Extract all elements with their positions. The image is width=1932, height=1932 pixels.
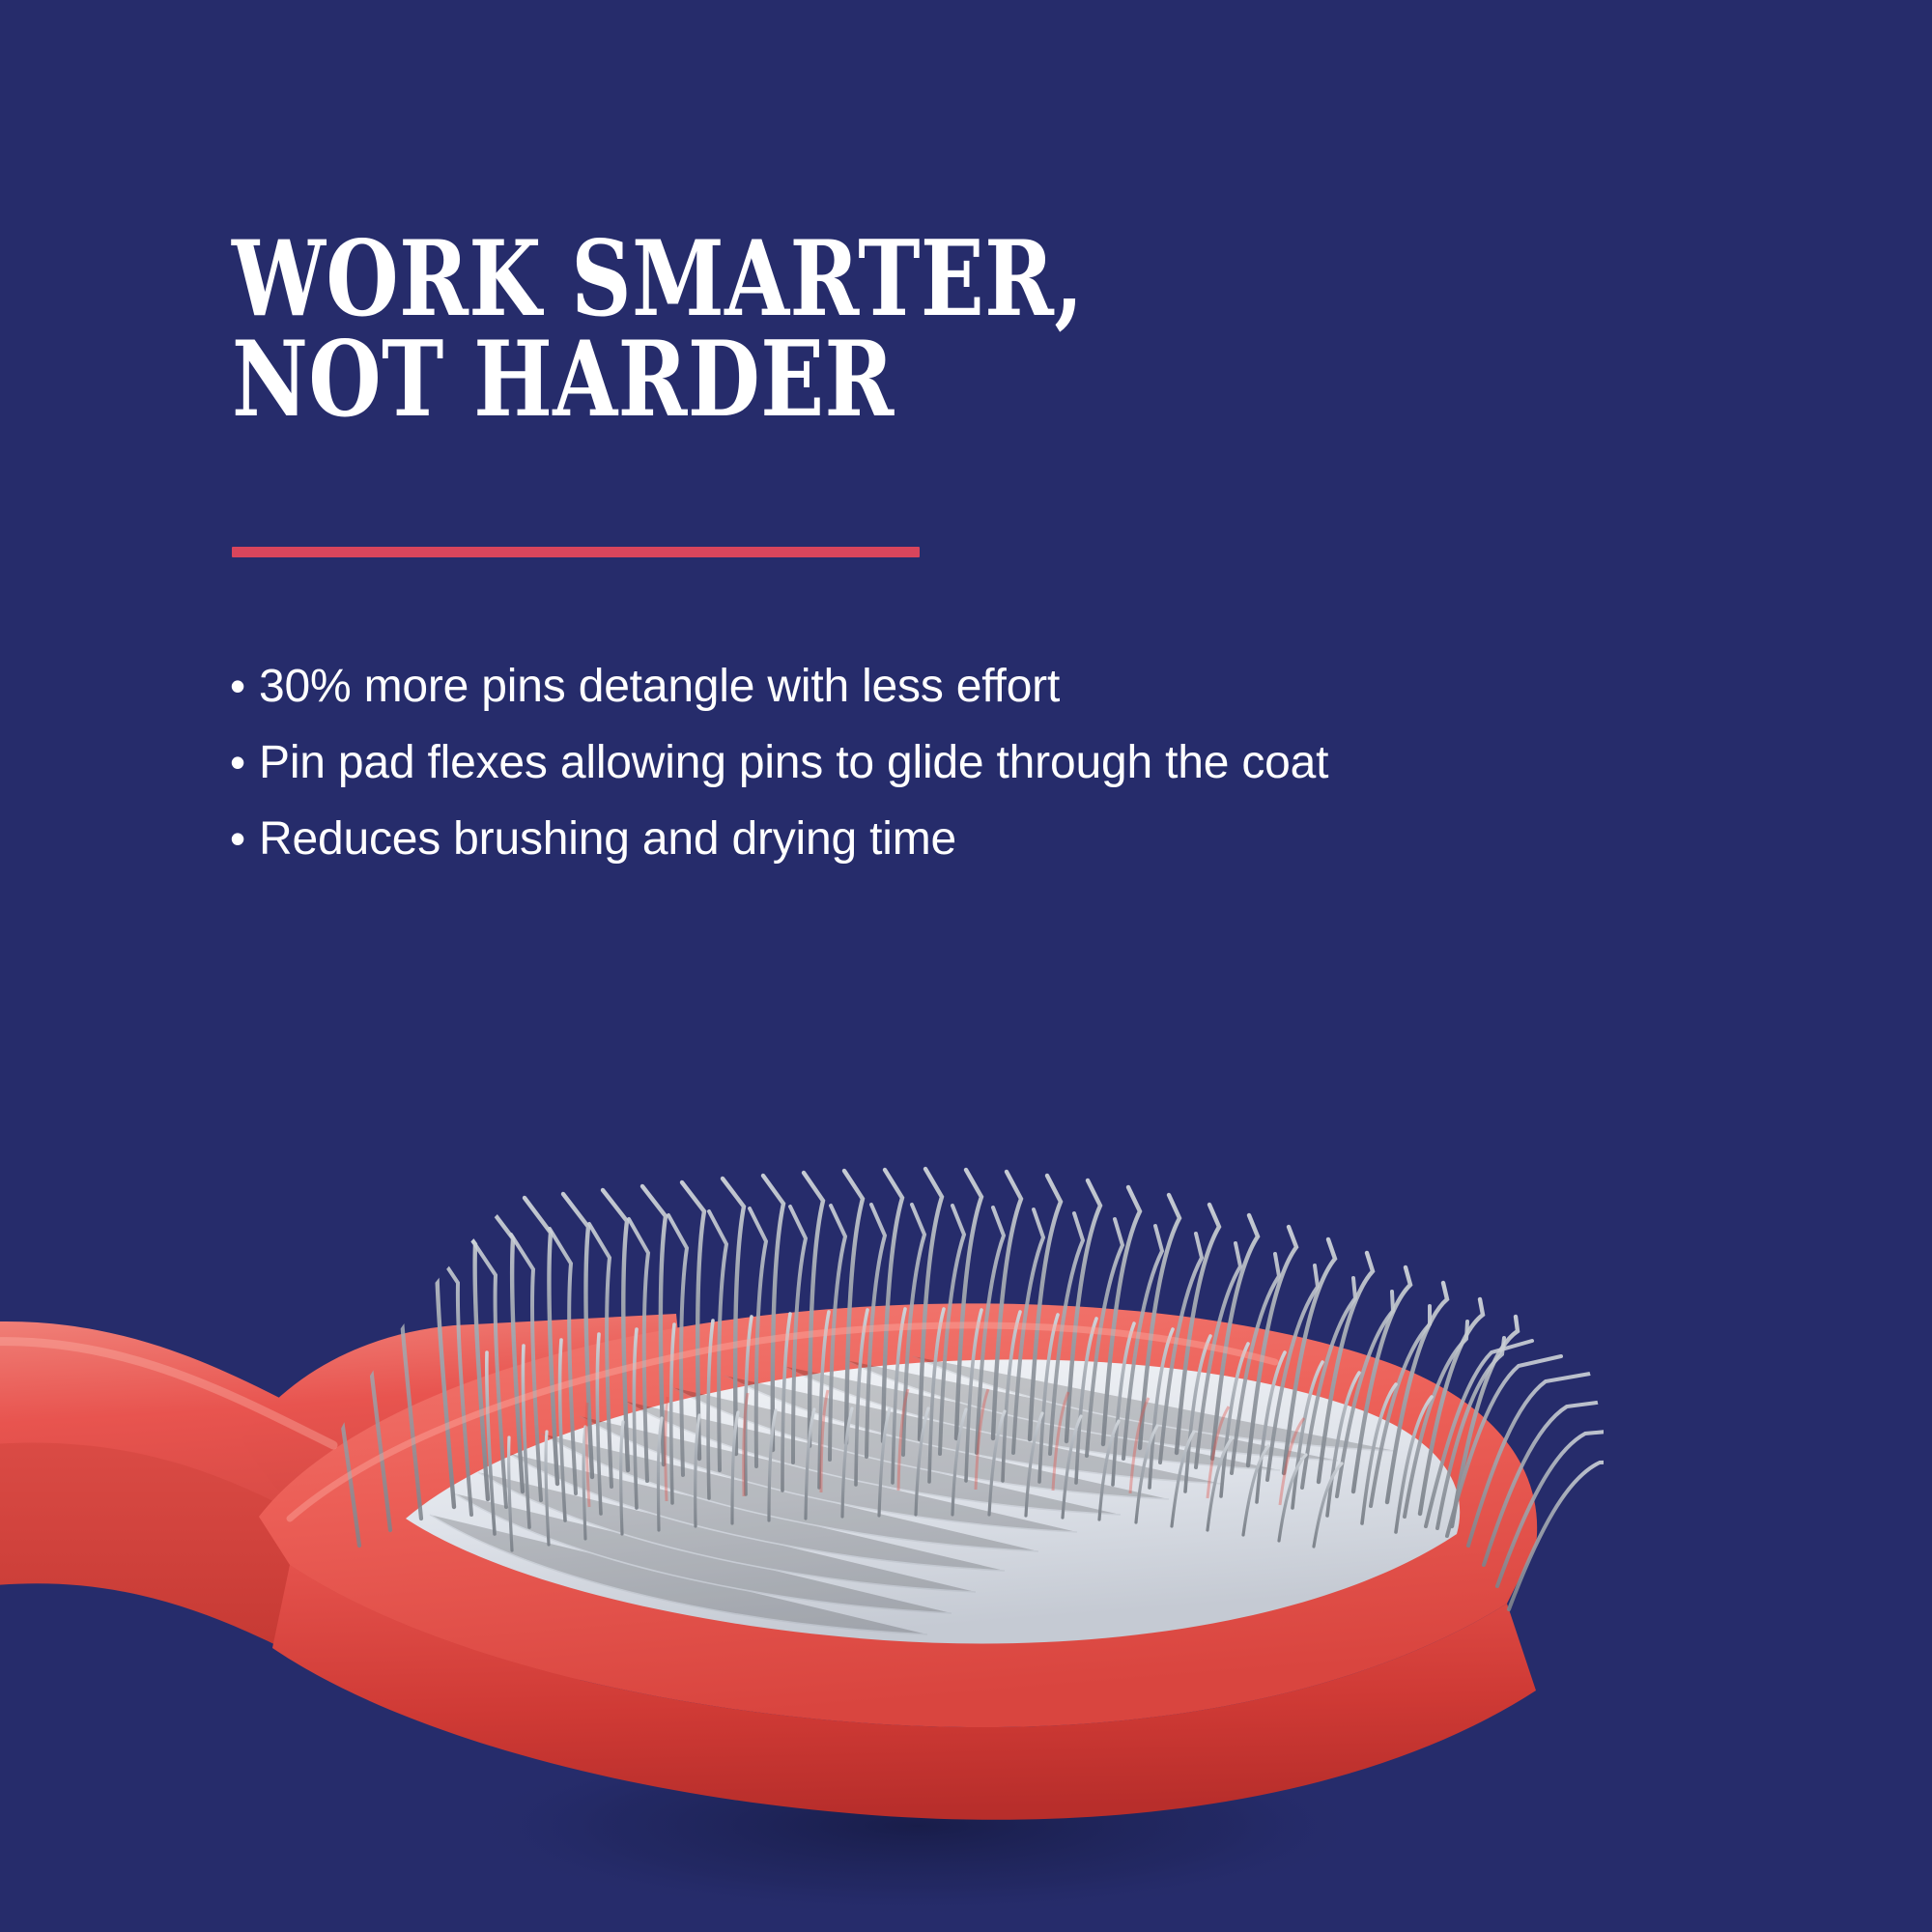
page-title: WORK SMARTER, NOT HARDER [232, 230, 1488, 430]
bullet-marker-icon: • [230, 733, 259, 791]
list-item-label: Reduces brushing and drying time [259, 810, 1437, 868]
accent-divider [232, 547, 920, 557]
feature-list: • 30% more pins detangle with less effor… [230, 657, 1437, 886]
list-item: • 30% more pins detangle with less effor… [230, 657, 1437, 716]
bullet-marker-icon: • [230, 657, 259, 715]
list-item-label: 30% more pins detangle with less effort [259, 657, 1437, 716]
headline-line-2: NOT HARDER [232, 330, 1236, 431]
bullet-marker-icon: • [230, 810, 259, 867]
headline-line-1: WORK SMARTER, [232, 230, 1236, 330]
product-photo-slicker-brush [0, 1024, 1932, 1932]
list-item: • Reduces brushing and drying time [230, 810, 1437, 868]
list-item: • Pin pad flexes allowing pins to glide … [230, 733, 1437, 792]
promo-graphic: WORK SMARTER, NOT HARDER • 30% more pins… [0, 0, 1932, 1932]
list-item-label: Pin pad flexes allowing pins to glide th… [259, 733, 1437, 792]
